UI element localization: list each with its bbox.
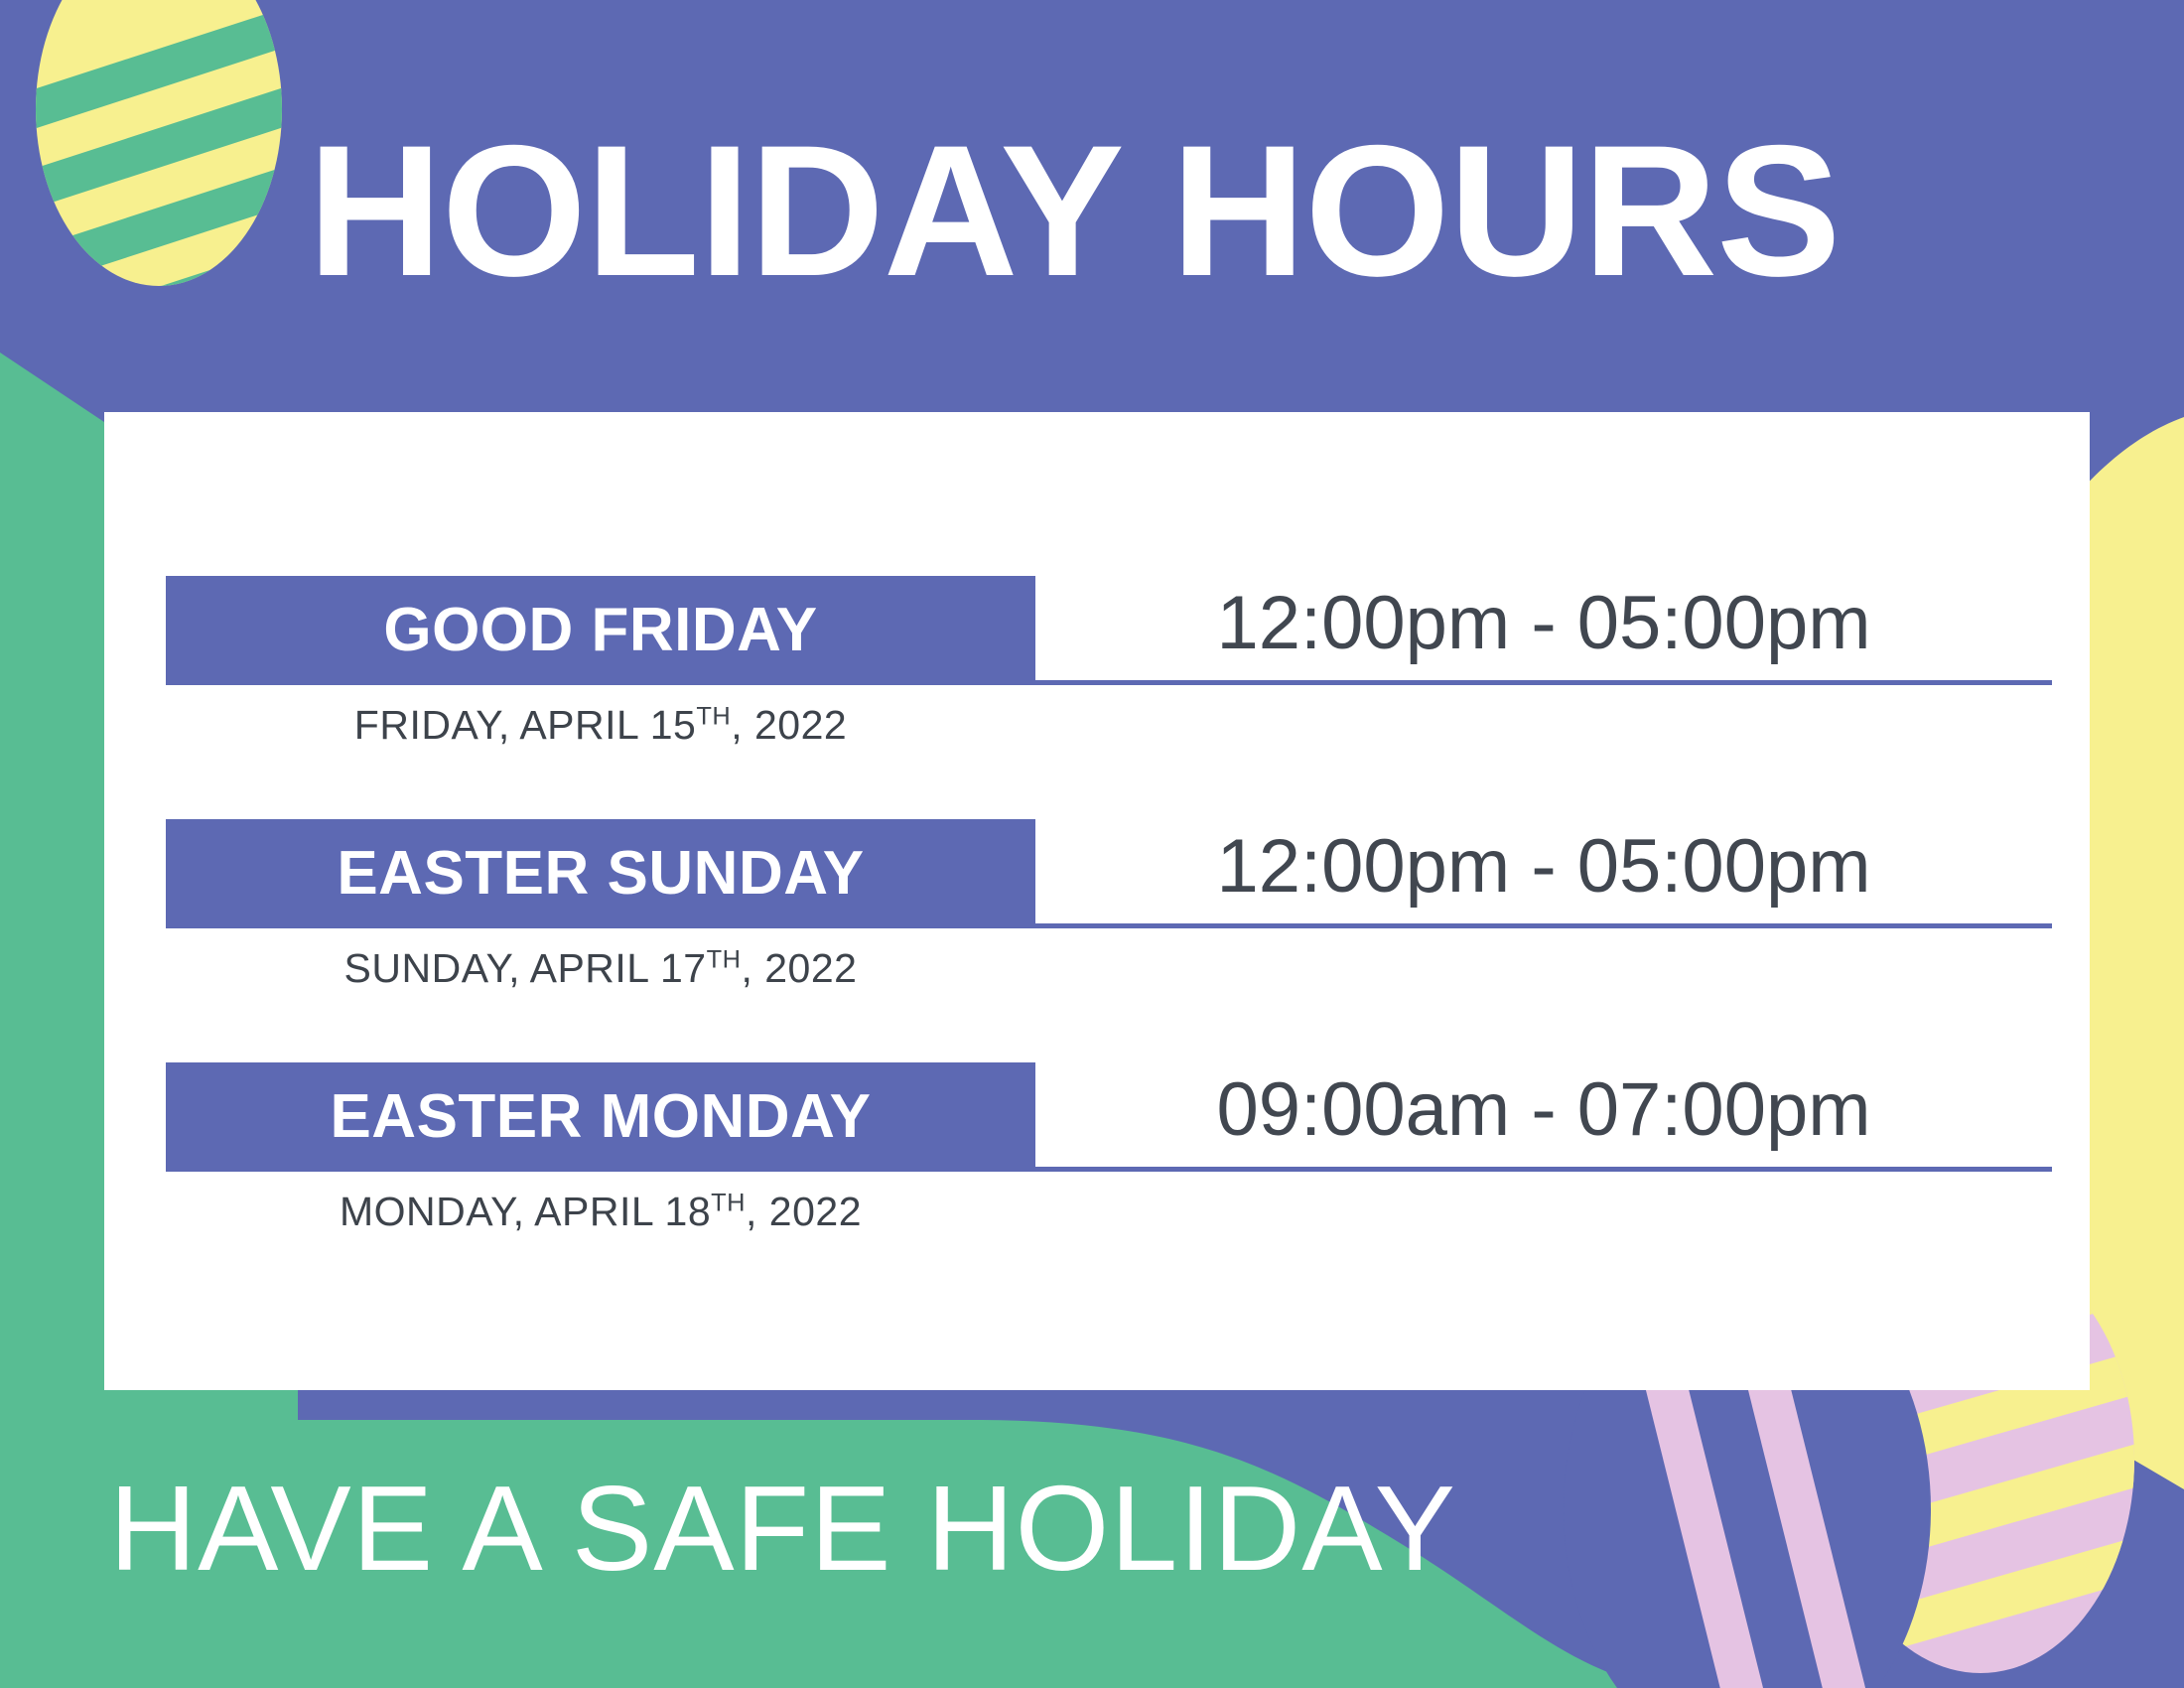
hours-card: GOOD FRIDAY 12:00pm - 05:00pm FRIDAY, AP… bbox=[104, 412, 2090, 1390]
date-prefix: SUNDAY, APRIL 17 bbox=[344, 945, 707, 991]
hours-cell: 09:00am - 07:00pm bbox=[1035, 1062, 2052, 1172]
date-ordinal: TH bbox=[711, 1189, 746, 1216]
date-ordinal: TH bbox=[707, 945, 742, 973]
hours-value: 12:00pm - 05:00pm bbox=[1216, 829, 1870, 914]
holiday-date: SUNDAY, APRIL 17TH, 2022 bbox=[166, 928, 1035, 989]
table-row: EASTER MONDAY 09:00am - 07:00pm MONDAY, … bbox=[166, 1062, 2052, 1306]
holiday-name: EASTER SUNDAY bbox=[337, 843, 864, 905]
row-main: GOOD FRIDAY 12:00pm - 05:00pm bbox=[166, 576, 2052, 685]
holiday-label-bar: GOOD FRIDAY bbox=[166, 576, 1035, 685]
holiday-date: MONDAY, APRIL 18TH, 2022 bbox=[166, 1172, 1035, 1232]
hours-value: 12:00pm - 05:00pm bbox=[1216, 586, 1870, 671]
holiday-date: FRIDAY, APRIL 15TH, 2022 bbox=[166, 685, 1035, 746]
tagline: HAVE A SAFE HOLIDAY bbox=[109, 1468, 1456, 1589]
table-row: GOOD FRIDAY 12:00pm - 05:00pm FRIDAY, AP… bbox=[166, 576, 2052, 819]
table-row: EASTER SUNDAY 12:00pm - 05:00pm SUNDAY, … bbox=[166, 819, 2052, 1062]
date-prefix: FRIDAY, APRIL 15 bbox=[354, 702, 697, 748]
hours-cell: 12:00pm - 05:00pm bbox=[1035, 819, 2052, 928]
date-suffix: , 2022 bbox=[746, 1189, 862, 1234]
holiday-label-bar: EASTER SUNDAY bbox=[166, 819, 1035, 928]
date-suffix: , 2022 bbox=[731, 702, 847, 748]
date-prefix: MONDAY, APRIL 18 bbox=[340, 1189, 711, 1234]
hours-cell: 12:00pm - 05:00pm bbox=[1035, 576, 2052, 685]
hours-value: 09:00am - 07:00pm bbox=[1216, 1072, 1870, 1158]
holiday-label-bar: EASTER MONDAY bbox=[166, 1062, 1035, 1172]
date-suffix: , 2022 bbox=[741, 945, 857, 991]
holiday-name: EASTER MONDAY bbox=[330, 1086, 871, 1148]
holiday-hours-poster: HOLIDAY HOURS GOOD FRIDAY 12:00pm - 05:0… bbox=[0, 0, 2184, 1688]
date-ordinal: TH bbox=[696, 702, 731, 730]
holiday-name: GOOD FRIDAY bbox=[383, 600, 817, 661]
hours-table: GOOD FRIDAY 12:00pm - 05:00pm FRIDAY, AP… bbox=[166, 576, 2052, 1306]
row-main: EASTER MONDAY 09:00am - 07:00pm bbox=[166, 1062, 2052, 1172]
row-main: EASTER SUNDAY 12:00pm - 05:00pm bbox=[166, 819, 2052, 928]
page-title: HOLIDAY HOURS bbox=[308, 117, 1841, 304]
